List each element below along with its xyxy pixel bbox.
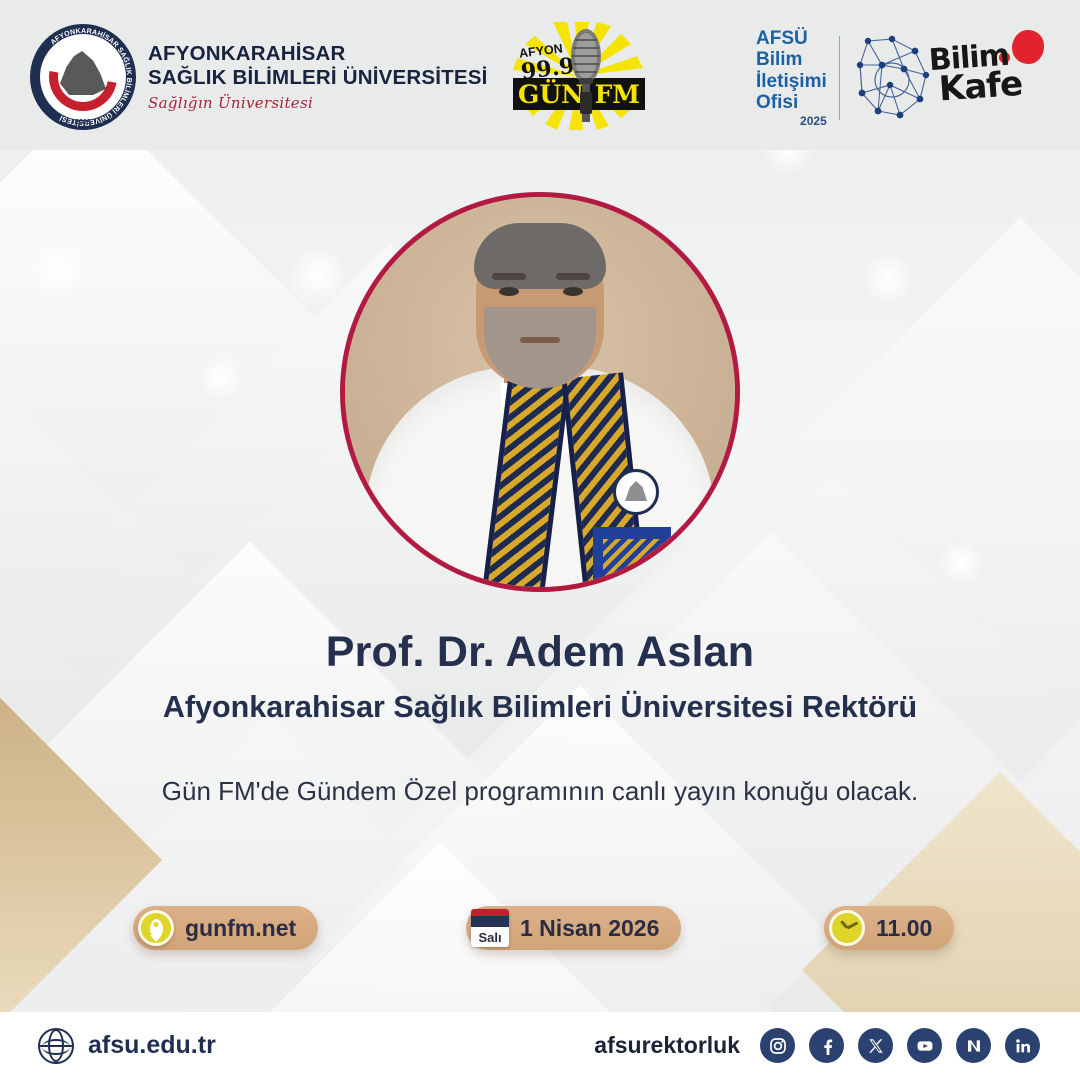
location-pin-icon — [138, 910, 174, 946]
light-spot — [198, 355, 244, 401]
light-spot — [288, 245, 348, 305]
pill-date-label: 1 Nisan 2026 — [520, 915, 659, 942]
university-name-line2: SAĞLIK BİLİMLERİ ÜNİVERSİTESİ — [148, 66, 488, 90]
photo-blue-panel — [593, 527, 671, 592]
bilim-kafe-line2: Kafe — [938, 68, 1023, 105]
footer-website-block[interactable]: afsu.edu.tr — [38, 1028, 216, 1064]
youtube-icon[interactable] — [907, 1028, 942, 1063]
science-office-logo: AFSÜ Bilim İletişimi Ofisi 2025 — [756, 28, 932, 129]
pill-time-label: 11.00 — [876, 915, 932, 942]
clock-icon — [829, 910, 865, 946]
footer-website-label: afsu.edu.tr — [88, 1031, 216, 1060]
science-office-year: 2025 — [800, 115, 827, 128]
instagram-icon[interactable] — [760, 1028, 795, 1063]
light-spot — [862, 252, 914, 304]
calendar-top-red — [471, 909, 509, 916]
microphone-icon — [569, 28, 603, 124]
x-twitter-icon[interactable] — [858, 1028, 893, 1063]
gun-fm-logo: AFYON 99.9 GÜN FM — [505, 22, 653, 130]
emblem-year: 2018 — [30, 119, 136, 126]
light-spot — [28, 240, 88, 300]
poster-footer: afsu.edu.tr afsurektorluk — [0, 1012, 1080, 1079]
network-b-icon — [852, 35, 932, 121]
speaker-photo — [340, 192, 740, 592]
calendar-top-navy — [471, 916, 509, 927]
photo-eyebrow-right — [556, 273, 590, 280]
photo-eye-right — [563, 287, 583, 296]
university-name-line1: AFYONKARAHİSAR — [148, 42, 488, 66]
facebook-icon[interactable] — [809, 1028, 844, 1063]
photo-eyebrow-left — [492, 273, 526, 280]
emblem-inner — [41, 35, 125, 119]
logo-divider — [839, 36, 840, 120]
calendar-icon: Salı — [471, 909, 509, 947]
pill-time[interactable]: 11.00 — [824, 906, 954, 950]
university-name-block: AFYONKARAHİSAR SAĞLIK BİLİMLERİ ÜNİVERSİ… — [148, 42, 488, 112]
light-spot — [938, 540, 984, 586]
science-office-line1: AFSÜ — [756, 28, 808, 49]
science-office-line4: Ofisi — [756, 92, 798, 113]
science-office-text: AFSÜ Bilim İletişimi Ofisi 2025 — [756, 28, 827, 129]
pill-date[interactable]: Salı 1 Nisan 2026 — [466, 906, 681, 950]
university-tagline: Sağlığın Üniversitesi — [148, 94, 488, 112]
photo-robe-badge — [613, 469, 659, 515]
footer-social-block: afsurektorluk — [594, 1028, 1040, 1063]
calendar-day-label: Salı — [471, 927, 509, 947]
event-description: Gün FM'de Gündem Özel programının canlı … — [0, 776, 1080, 807]
afsu-emblem-icon: AFYONKARAHİSAR SAĞLIK BİLİMLERİ ÜNİVERSİ… — [30, 24, 136, 130]
science-office-line3: İletişimi — [756, 71, 827, 92]
bilim-kafe-logo: Bilim Kafe — [930, 30, 1048, 120]
pill-website[interactable]: gunfm.net — [133, 906, 318, 950]
globe-icon — [38, 1028, 74, 1064]
poster-header: AFYONKARAHİSAR SAĞLIK BİLİMLERİ ÜNİVERSİ… — [0, 0, 1080, 150]
speaker-name: Prof. Dr. Adem Aslan — [0, 628, 1080, 677]
photo-mouth — [520, 337, 560, 343]
science-office-line2: Bilim — [756, 49, 802, 70]
pill-website-label: gunfm.net — [185, 915, 296, 942]
photo-eye-left — [499, 287, 519, 296]
n-network-icon[interactable] — [956, 1028, 991, 1063]
footer-social-handle: afsurektorluk — [594, 1032, 740, 1059]
university-logo-block: AFYONKARAHİSAR SAĞLIK BİLİMLERİ ÜNİVERSİ… — [30, 24, 488, 130]
speaker-role: Afyonkarahisar Sağlık Bilimleri Üniversi… — [0, 690, 1080, 725]
bilim-kafe-text: Bilim Kafe — [928, 41, 1023, 106]
linkedin-icon[interactable] — [1005, 1028, 1040, 1063]
event-poster: AFYONKARAHİSAR SAĞLIK BİLİMLERİ ÜNİVERSİ… — [0, 0, 1080, 1079]
